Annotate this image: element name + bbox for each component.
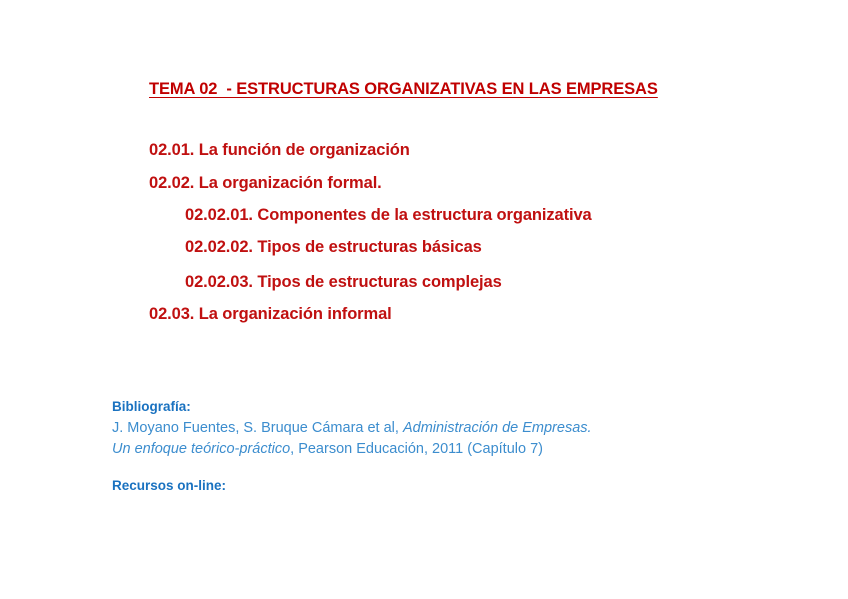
outline-item-02-03: 02.03. La organización informal [149,305,392,324]
bibliography-line-1: J. Moyano Fuentes, S. Bruque Cámara et a… [112,418,592,439]
resources-heading: Recursos on-line: [112,478,226,493]
outline-item-02-02: 02.02. La organización formal. [149,174,382,193]
outline-item-02-01: 02.01. La función de organización [149,141,410,160]
bibliography-heading: Bibliografía: [112,399,191,414]
slide-title: TEMA 02 - ESTRUCTURAS ORGANIZATIVAS EN L… [149,80,658,99]
slide-canvas: TEMA 02 - ESTRUCTURAS ORGANIZATIVAS EN L… [0,0,848,599]
outline-item-02-02-02: 02.02.02. Tipos de estructuras básicas [185,238,482,257]
bibliography-line-2: Un enfoque teórico-práctico, Pearson Edu… [112,439,543,460]
bibliography-title-part-2: Un enfoque teórico-práctico [112,441,290,457]
bibliography-publisher: , Pearson Educación, 2011 (Capítulo 7) [290,441,543,457]
bibliography-title-part-1: Administración de Empresas. [403,420,592,436]
outline-item-02-02-03: 02.02.03. Tipos de estructuras complejas [185,273,502,292]
bibliography-authors: J. Moyano Fuentes, S. Bruque Cámara et a… [112,420,403,436]
outline-item-02-02-01: 02.02.01. Componentes de la estructura o… [185,206,592,225]
